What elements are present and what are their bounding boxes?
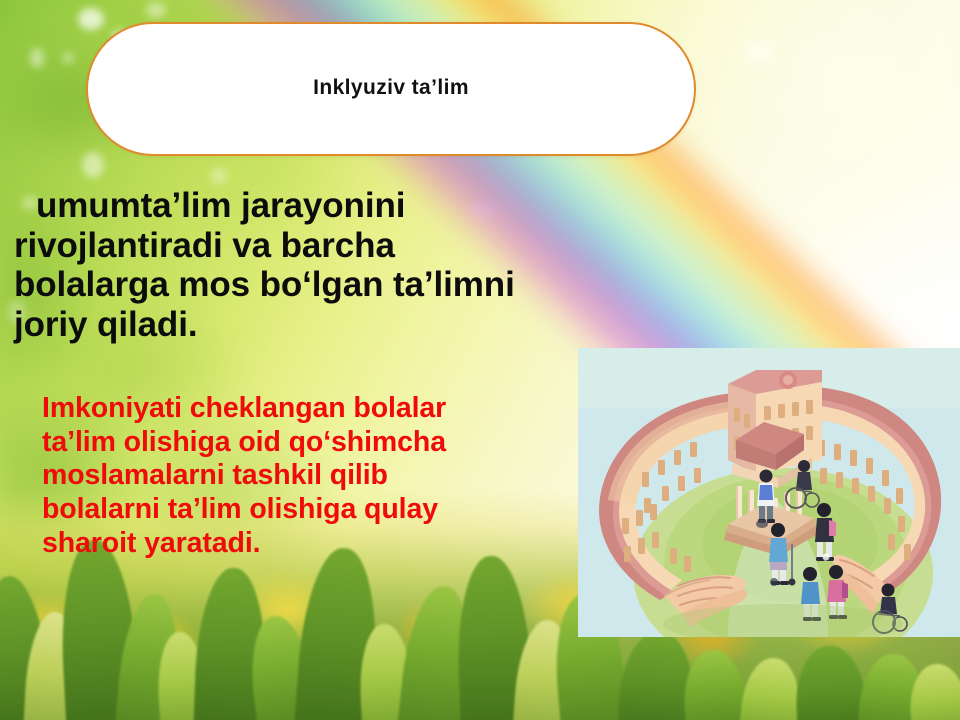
body-text-black: umumta’lim jarayonini rivojlantiradi va … [14, 186, 720, 344]
bokeh-spot [78, 8, 104, 30]
bokeh-spot [210, 168, 228, 184]
body-line: rivojlantiradi va barcha [14, 226, 720, 266]
title-pill: Inklyuziv ta’lim [86, 22, 696, 156]
inclusive-school-illustration [578, 348, 960, 637]
bokeh-spot [82, 152, 104, 178]
bokeh-spot [62, 52, 74, 64]
body-line: Imkoniyati cheklangan bolalar [42, 392, 572, 426]
school-hands-illustration-svg [578, 348, 960, 637]
body-line: moslamalarni tashkil qilib [42, 459, 572, 493]
page-title: Inklyuziv ta’lim [313, 76, 469, 100]
body-line: joriy qiladi. [14, 305, 720, 345]
body-line: bolalarni ta’lim olishiga qulay [42, 493, 572, 527]
slide-canvas: Inklyuziv ta’lim umumta’lim jarayonini r… [0, 0, 960, 720]
bokeh-spot [146, 2, 166, 18]
body-line: umumta’lim jarayonini [14, 186, 720, 226]
bokeh-spot [30, 48, 44, 68]
bokeh-spot [744, 40, 772, 62]
body-line: ta’lim olishiga oid qo‘shimcha [42, 426, 572, 460]
body-line: sharoit yaratadi. [42, 527, 572, 561]
body-text-red: Imkoniyati cheklangan bolalar ta’lim oli… [42, 392, 572, 560]
body-line: bolalarga mos bo‘lgan ta’limni [14, 265, 720, 305]
